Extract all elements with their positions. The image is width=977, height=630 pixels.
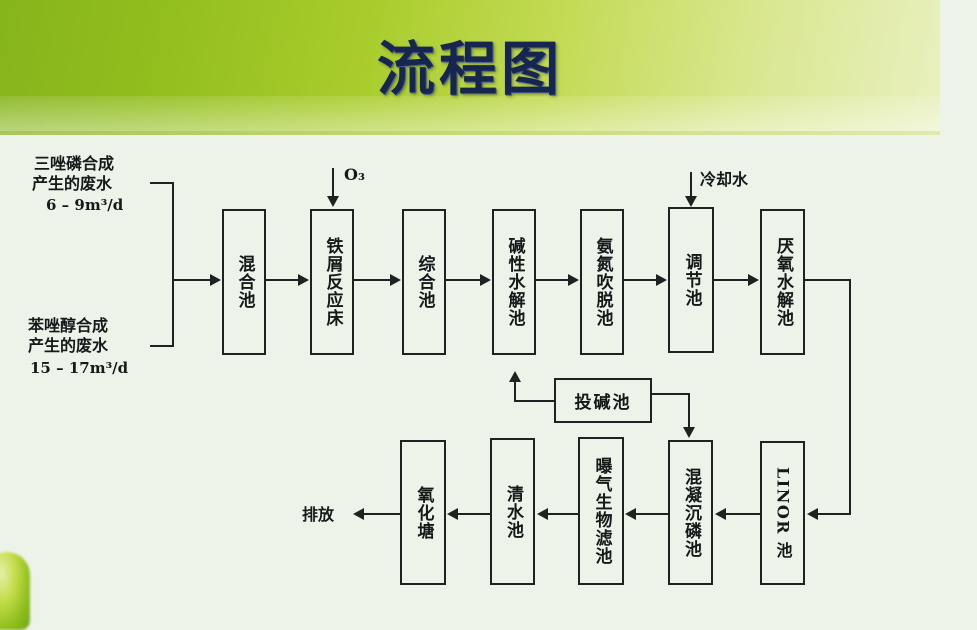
process-box-clean-water-tank-label: 清水池: [504, 485, 521, 539]
process-box-comprehensive-tank-label: 综合池: [416, 255, 433, 309]
process-box-regulating-tank-label: 调节池: [683, 253, 700, 307]
process-box-alkali-dosing-tank-label: 投碱池: [575, 388, 632, 413]
process-box-coagulation-phosphorus-tank[interactable]: 混凝沉磷池: [668, 440, 713, 585]
edge-linor-to-box9: [726, 513, 760, 515]
input-2-line3: 15 – 17m³/d: [30, 357, 128, 380]
process-box-aerated-biofilter-label: 曝气生物滤池: [593, 457, 610, 565]
process-box-linor-tank-label: LINOR 池: [771, 467, 795, 560]
arrowhead-box4-to-box5: [568, 274, 579, 286]
process-box-clean-water-tank[interactable]: 清水池: [490, 438, 535, 585]
process-box-anaerobic-hydrolysis-tank-label: 厌氧水解池: [774, 237, 791, 327]
arrowhead-box3-to-box4: [480, 274, 491, 286]
arrowhead-ozone: [327, 196, 339, 207]
arrowhead-into-linor-tank: [807, 508, 818, 520]
input-1-line3: 6 – 9m³/d: [46, 194, 123, 217]
input-1-stub: [150, 182, 173, 184]
process-box-aerated-biofilter[interactable]: 曝气生物滤池: [578, 437, 624, 585]
edge-box4-to-box5: [536, 279, 570, 281]
input-1-line2: 产生的废水: [32, 172, 112, 196]
arrowhead-box1-to-box2: [298, 274, 309, 286]
process-box-regulating-tank[interactable]: 调节池: [668, 207, 714, 353]
edge-box7-down-to-bottom-row: [849, 279, 851, 515]
process-box-ammonia-stripping-tank[interactable]: 氨氮吹脱池: [580, 209, 624, 355]
arrowhead-dosing-to-box9: [683, 427, 695, 438]
decorative-leaf-shape: [0, 552, 30, 630]
edge-box10-to-box11: [548, 513, 578, 515]
edge-box5-to-box6: [624, 279, 658, 281]
ozone-label: O₃: [344, 163, 365, 187]
edge-dosing-right-stub: [652, 393, 690, 395]
process-box-alkaline-hydrolysis-tank[interactable]: 碱性水解池: [492, 209, 536, 355]
arrowhead-linor-to-box9: [715, 508, 726, 520]
edge-dosing-up-to-box4: [514, 382, 516, 400]
arrowhead-box5-to-box6: [656, 274, 667, 286]
page-title: 流程图: [0, 22, 940, 106]
arrowhead-box9-to-box10: [625, 508, 636, 520]
process-box-mixing-tank[interactable]: 混合池: [222, 209, 266, 355]
process-box-linor-tank[interactable]: LINOR 池: [760, 441, 805, 585]
input-bracket: [172, 182, 174, 347]
process-box-mixing-tank-label: 混合池: [236, 255, 253, 309]
arrowhead-box6-to-box7: [748, 274, 759, 286]
input-2-stub: [150, 345, 173, 347]
arrowhead-box2-to-box3: [390, 274, 401, 286]
arrowhead-box11-to-box12: [447, 508, 458, 520]
edge-box11-to-box12: [458, 513, 490, 515]
slide-canvas: 流程图 三唑磷合成 产生的废水 6 – 9m³/d 苯唑醇合成 产生的废水 15…: [0, 0, 977, 614]
edge-box6-to-box7: [714, 279, 750, 281]
arrowhead-cooling-water: [685, 196, 697, 207]
process-box-oxidation-pond[interactable]: 氧化塘: [400, 440, 446, 585]
edge-box3-to-box4: [446, 279, 482, 281]
arrowhead-box10-to-box11: [537, 508, 548, 520]
edge-box9-to-box10: [636, 513, 668, 515]
process-box-comprehensive-tank[interactable]: 综合池: [402, 209, 446, 355]
edge-box2-to-box3: [354, 279, 392, 281]
arrowhead-input-to-box1: [210, 274, 221, 286]
banner-underline: [0, 131, 940, 135]
process-box-iron-filings-bed-label: 铁屑反应床: [324, 237, 341, 327]
edge-ozone-to-box2: [332, 168, 334, 198]
banner-right-margin: [940, 0, 977, 131]
edge-dosing-left-stub: [514, 400, 554, 402]
cooling-water-label: 冷却水: [700, 168, 748, 192]
process-box-iron-filings-bed[interactable]: 铁屑反应床: [310, 209, 354, 355]
edge-input-to-box1: [174, 279, 212, 281]
edge-dosing-down-to-box9: [688, 393, 690, 429]
edge-box1-to-box2: [266, 279, 300, 281]
process-box-coagulation-phosphorus-tank-label: 混凝沉磷池: [682, 468, 699, 558]
discharge-label: 排放: [302, 503, 334, 527]
process-box-ammonia-stripping-tank-label: 氨氮吹脱池: [594, 237, 611, 327]
process-box-oxidation-pond-label: 氧化塘: [415, 486, 432, 540]
edge-box12-to-discharge: [364, 513, 400, 515]
edge-into-linor-tank: [818, 513, 851, 515]
edge-cooling-water-to-box6: [690, 172, 692, 198]
arrowhead-dosing-to-box4: [509, 371, 521, 382]
process-box-alkaline-hydrolysis-tank-label: 碱性水解池: [506, 237, 523, 327]
arrowhead-discharge: [353, 508, 364, 520]
input-2-line2: 产生的废水: [28, 334, 108, 358]
edge-box7-right-stub: [805, 279, 851, 281]
process-box-anaerobic-hydrolysis-tank[interactable]: 厌氧水解池: [760, 209, 805, 355]
process-box-alkali-dosing-tank[interactable]: 投碱池: [554, 378, 652, 423]
